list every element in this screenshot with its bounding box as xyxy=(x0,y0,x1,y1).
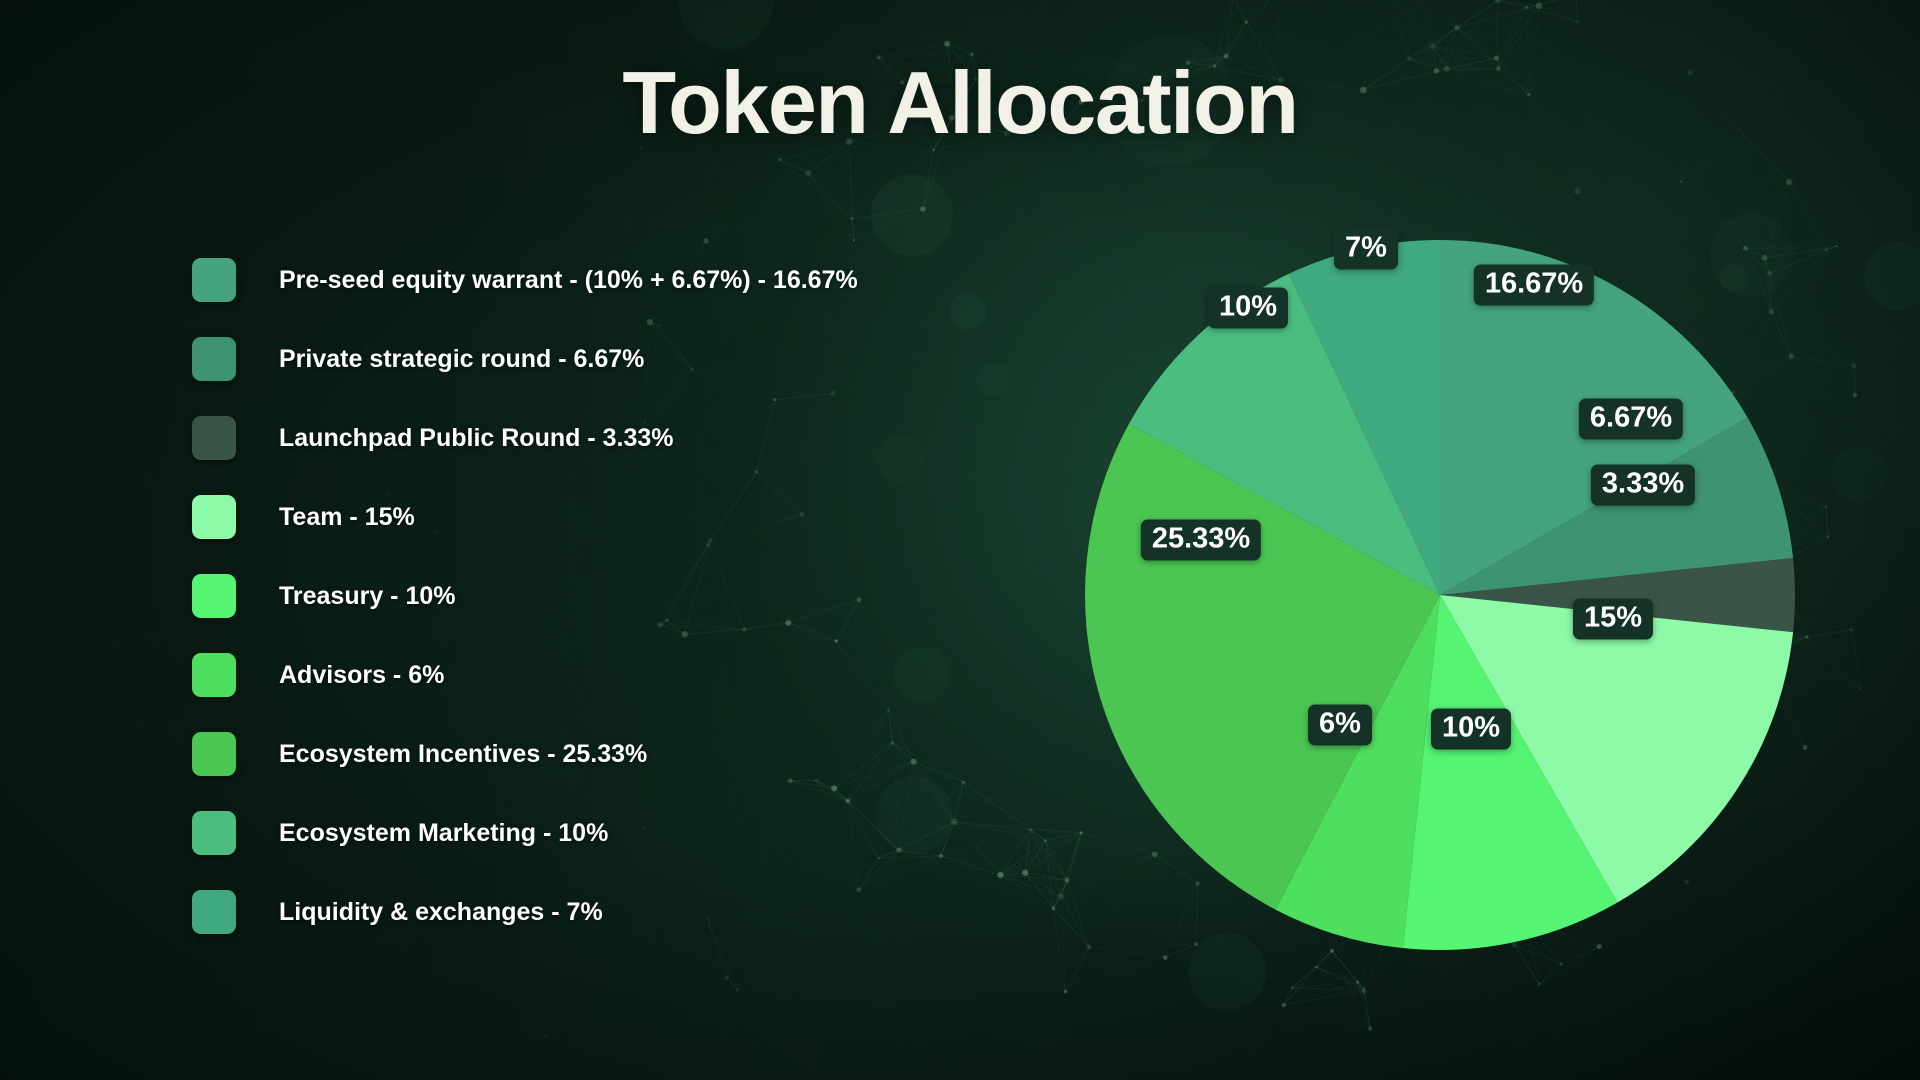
legend-item[interactable]: Launchpad Public Round - 3.33% xyxy=(192,416,858,460)
legend-item[interactable]: Ecosystem Incentives - 25.33% xyxy=(192,732,858,776)
legend-item-label: Launchpad Public Round - 3.33% xyxy=(279,424,673,453)
pie-slice-percentage-badge: 7% xyxy=(1334,229,1398,270)
pie-chart-svg xyxy=(1040,195,1840,995)
pie-slice-percentage-badge: 25.33% xyxy=(1141,520,1261,561)
legend-color-swatch xyxy=(192,890,236,934)
legend-color-swatch xyxy=(192,653,236,697)
pie-slice-percentage-badge: 15% xyxy=(1573,599,1653,640)
legend-color-swatch xyxy=(192,258,236,302)
pie-slice-percentage-badge: 16.67% xyxy=(1474,265,1594,306)
page-title: Token Allocation xyxy=(0,52,1920,154)
pie-slice-percentage-badge: 6% xyxy=(1308,705,1372,746)
legend-item-label: Private strategic round - 6.67% xyxy=(279,345,644,374)
legend-item[interactable]: Liquidity & exchanges - 7% xyxy=(192,890,858,934)
chart-legend: Pre-seed equity warrant - (10% + 6.67%) … xyxy=(192,258,858,969)
legend-item-label: Advisors - 6% xyxy=(279,661,444,690)
legend-item-label: Liquidity & exchanges - 7% xyxy=(279,898,603,927)
legend-item[interactable]: Team - 15% xyxy=(192,495,858,539)
legend-color-swatch xyxy=(192,337,236,381)
pie-slice-percentage-badge: 3.33% xyxy=(1591,465,1695,506)
legend-item-label: Ecosystem Incentives - 25.33% xyxy=(279,740,647,769)
legend-item[interactable]: Advisors - 6% xyxy=(192,653,858,697)
pie-chart: 16.67%6.67%3.33%15%10%6%25.33%10%7% xyxy=(1040,195,1840,995)
legend-item[interactable]: Ecosystem Marketing - 10% xyxy=(192,811,858,855)
legend-item[interactable]: Pre-seed equity warrant - (10% + 6.67%) … xyxy=(192,258,858,302)
legend-item-label: Pre-seed equity warrant - (10% + 6.67%) … xyxy=(279,266,858,295)
pie-slice-percentage-badge: 10% xyxy=(1208,288,1288,329)
pie-slice-percentage-badge: 10% xyxy=(1431,709,1511,750)
legend-color-swatch xyxy=(192,574,236,618)
legend-item[interactable]: Private strategic round - 6.67% xyxy=(192,337,858,381)
legend-item-label: Team - 15% xyxy=(279,503,415,532)
pie-slice-percentage-badge: 6.67% xyxy=(1579,399,1683,440)
legend-color-swatch xyxy=(192,811,236,855)
legend-color-swatch xyxy=(192,732,236,776)
legend-color-swatch xyxy=(192,495,236,539)
legend-color-swatch xyxy=(192,416,236,460)
legend-item[interactable]: Treasury - 10% xyxy=(192,574,858,618)
legend-item-label: Treasury - 10% xyxy=(279,582,456,611)
legend-item-label: Ecosystem Marketing - 10% xyxy=(279,819,608,848)
